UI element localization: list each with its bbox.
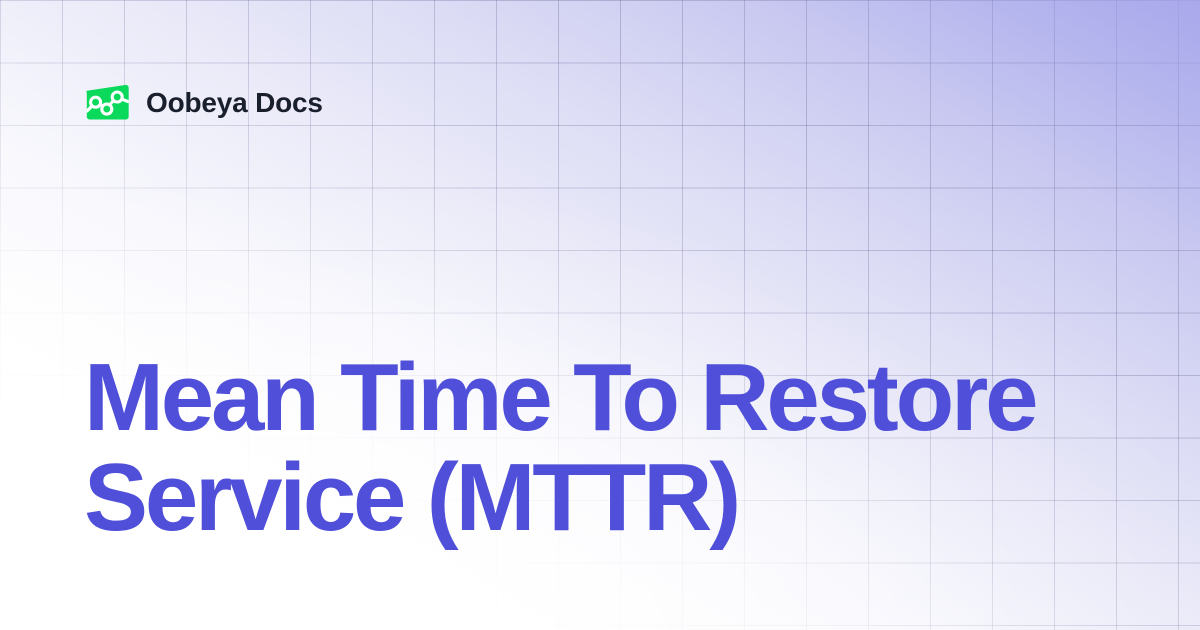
card-content: Oobeya Docs Mean Time To Restore Service…	[0, 0, 1200, 630]
brand-name: Oobeya Docs	[146, 89, 323, 117]
page-title: Mean Time To Restore Service (MTTR)	[84, 348, 1094, 548]
og-card: Oobeya Docs Mean Time To Restore Service…	[0, 0, 1200, 630]
brand-lockup[interactable]: Oobeya Docs	[84, 84, 323, 122]
oobeya-chart-logo-icon	[84, 84, 130, 122]
